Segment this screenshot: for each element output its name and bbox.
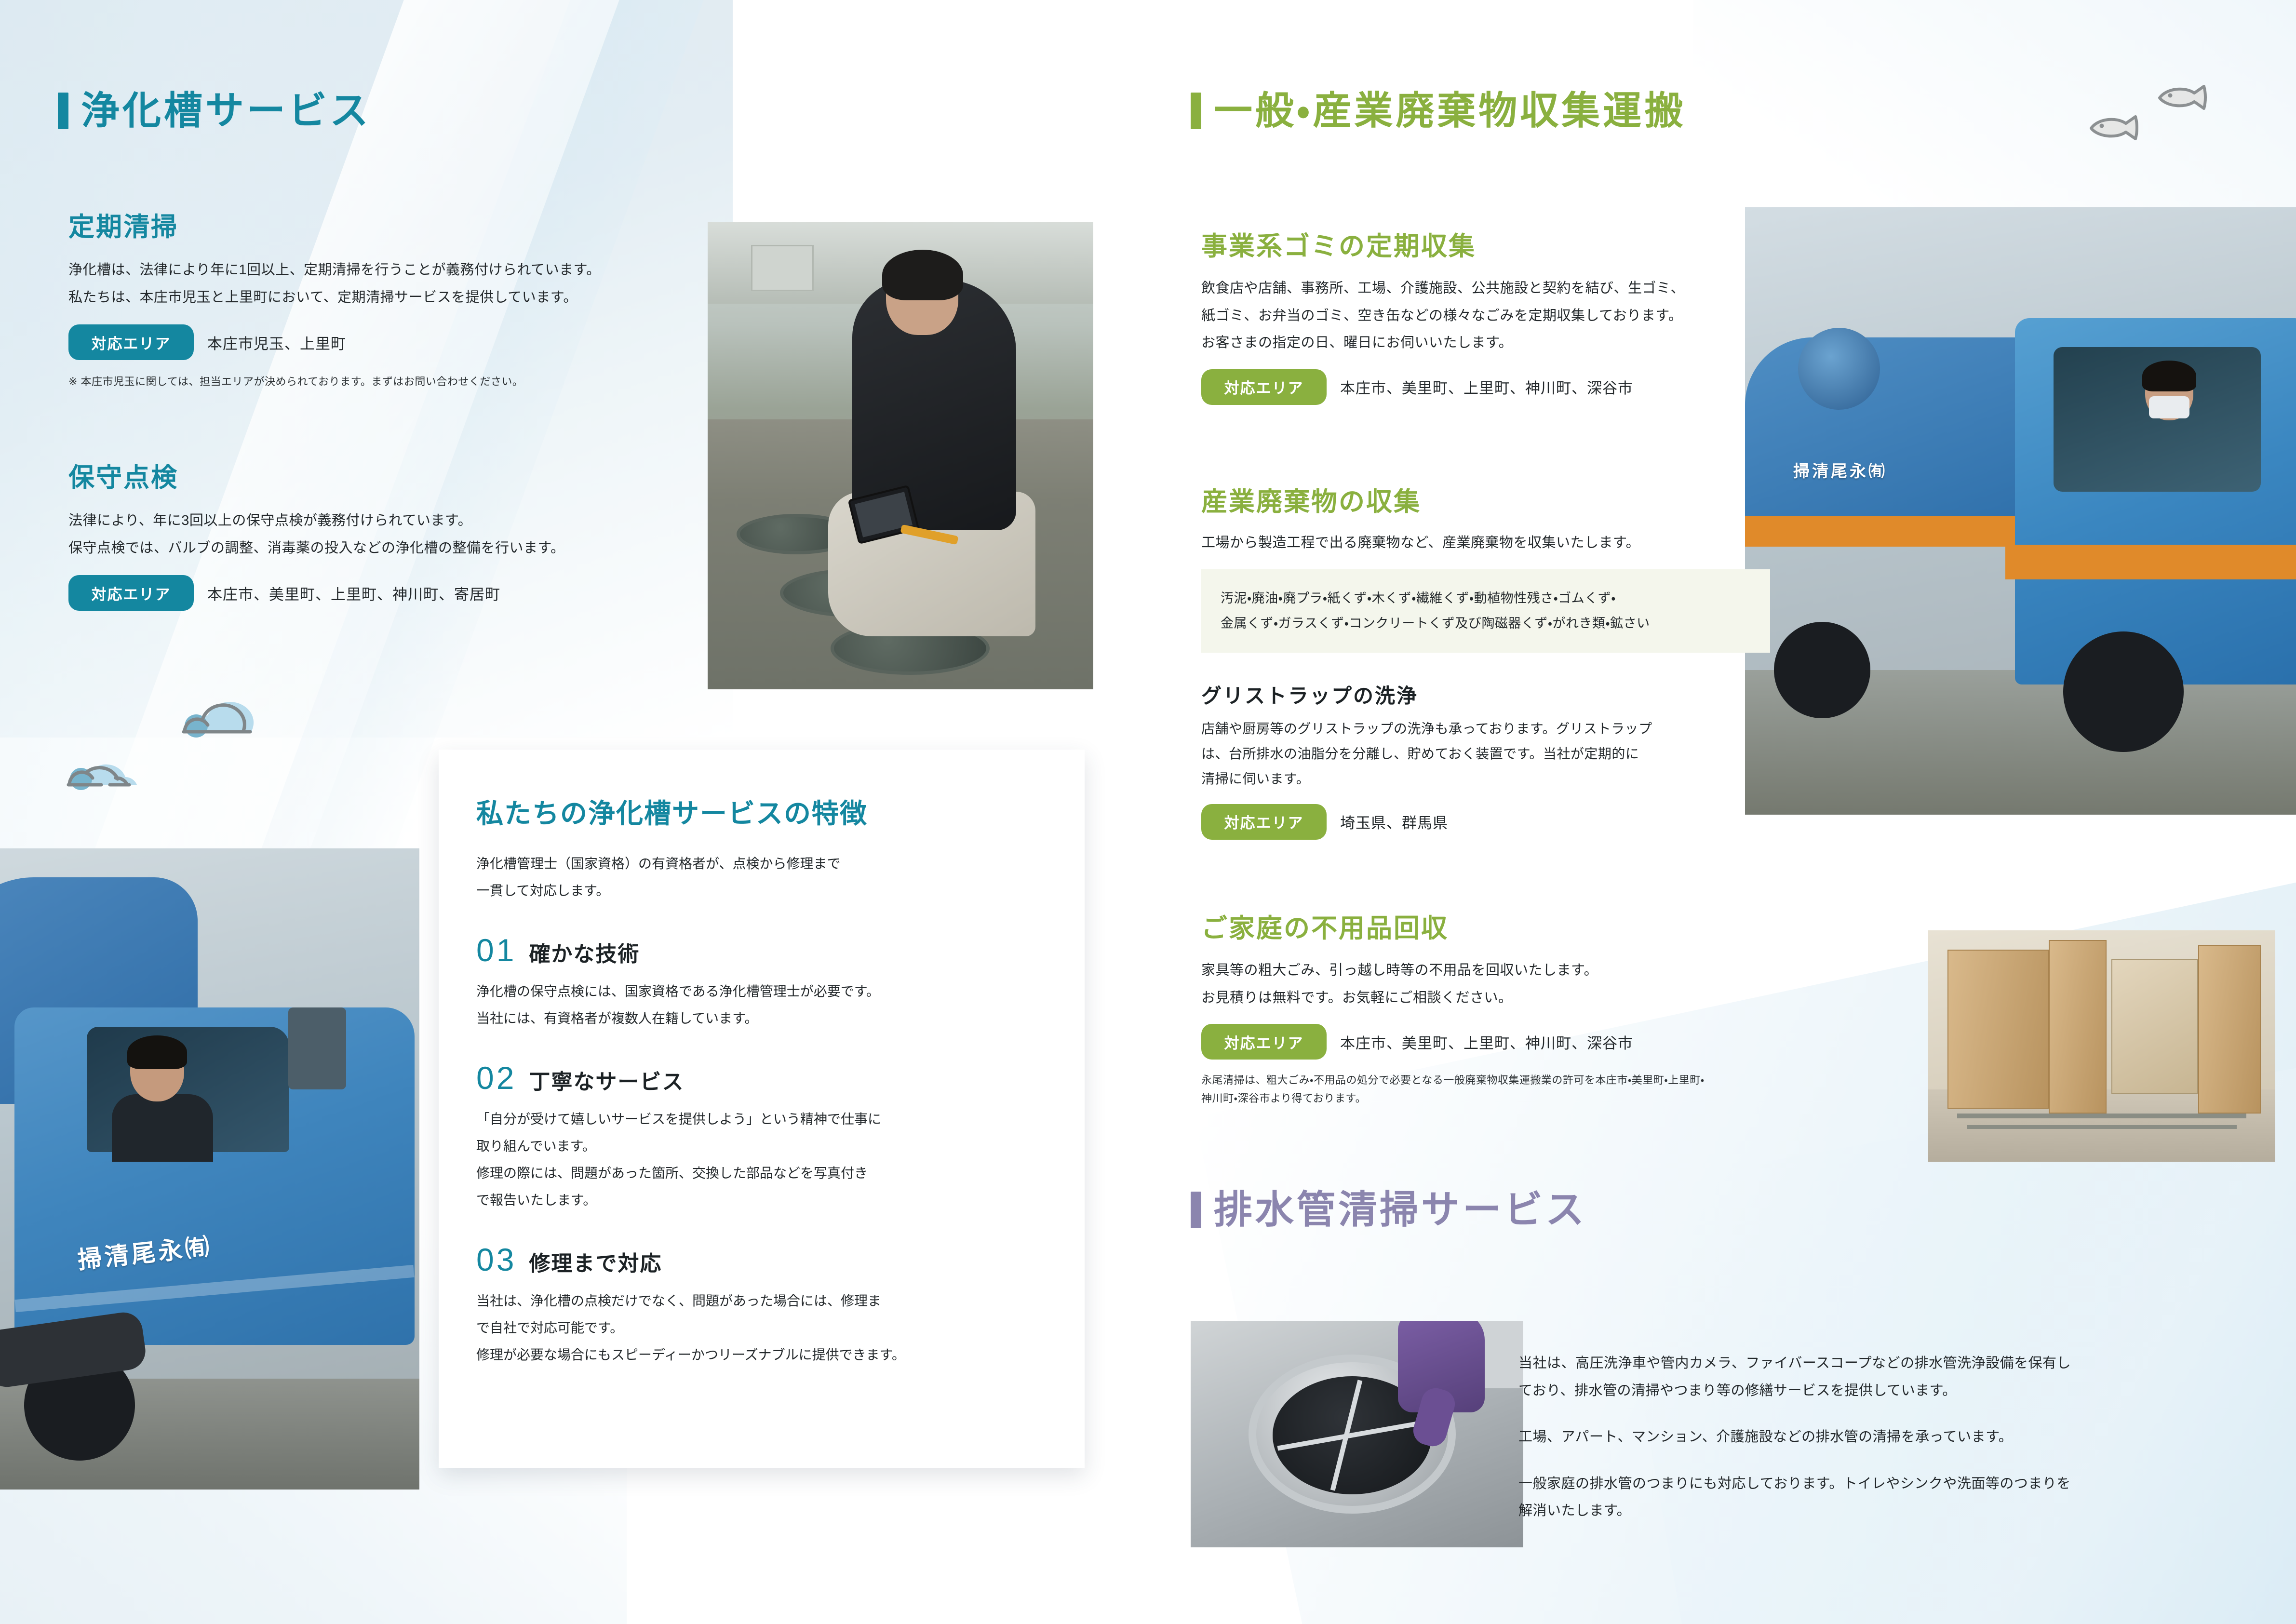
feature-item-03: 03 修理まで対応 当社は、浄化槽の点検だけでなく、問題があった場合には、修理ま… <box>476 1244 1047 1369</box>
feature-item-02: 02 丁寧なサービス 「自分が受けて嬉しいサービスを提供しよう」という精神で仕事… <box>476 1062 1047 1214</box>
feature-label-03: 修理まで対応 <box>529 1246 662 1277</box>
waste-types-box: 汚泥・廃油・廃プラ・紙くず・木くず・繊維くず・動植物性残さ・ゴムくず・ 金属くず… <box>1201 569 1770 653</box>
feature-number-02: 02 <box>476 1062 516 1094</box>
section-household-bulky-waste: ご家庭の不用品回収 家具等の粗大ごみ、引っ越し時等の不用品を回収いたします。 お… <box>1201 913 1818 1107</box>
area-row-grease-trap: 対応エリア 埼玉県、群馬県 <box>1201 804 1741 840</box>
feature-number-03: 03 <box>476 1244 516 1275</box>
section-grease-trap: グリストラップの洗浄 店舗や厨房等のグリストラップの洗浄も承っております。グリス… <box>1201 684 1741 840</box>
right-main-heading: 一般・産業廃棄物収集運搬 <box>1191 92 1686 130</box>
waste-types-line-2: 金属くず・ガラスくず・コンクリートくず及び陶磁器くず・がれき類・鉱さい <box>1221 611 1751 636</box>
section-heading-maintenance: 保守点検 <box>68 463 743 493</box>
section-body-drain-cleaning: 当社は、高圧洗浄車や管内カメラ、ファイバースコープなどの排水管洗浄設備を保有し … <box>1518 1350 2270 1525</box>
area-value-maintenance: 本庄市、美里町、上里町、神川町、寄居町 <box>207 582 500 604</box>
section-body-regular-cleaning: 浄化槽は、法律により年に1回以上、定期清掃を行うことが義務付けられています。 私… <box>68 256 743 311</box>
feature-card-title: 私たちの浄化槽サービスの特徴 <box>476 792 1047 831</box>
area-value-grease-trap: 埼玉県、群馬県 <box>1340 811 1448 832</box>
area-value-household-waste: 本庄市、美里町、上里町、神川町、深谷市 <box>1340 1031 1633 1053</box>
area-badge-business-waste: 対応エリア <box>1201 369 1327 405</box>
area-badge-regular-cleaning: 対応エリア <box>68 324 194 360</box>
feature-number-01: 01 <box>476 934 516 966</box>
right-column: 一般・産業廃棄物収集運搬 事業系ゴミの定期収集 飲食店や店舗、事務所、工場、介護… <box>1191 0 2296 1624</box>
feature-label-02: 丁寧なサービス <box>529 1064 684 1095</box>
heading-bar-teal <box>58 93 68 129</box>
section-drain-cleaning: 当社は、高圧洗浄車や管内カメラ、ファイバースコープなどの排水管洗浄設備を保有し … <box>1518 1350 2270 1525</box>
waste-types-line-1: 汚泥・廃油・廃プラ・紙くず・木くず・繊維くず・動植物性残さ・ゴムくず・ <box>1221 586 1751 611</box>
note-regular-cleaning: ※ 本庄市児玉に関しては、担当エリアが決められております。まずはお問い合わせくだ… <box>68 373 743 390</box>
feature-card-lead: 浄化槽管理士（国家資格）の有資格者が、点検から修理まで 一貫して対応します。 <box>476 850 1047 904</box>
area-row-household-waste: 対応エリア 本庄市、美里町、上里町、神川町、深谷市 <box>1201 1024 1818 1060</box>
section-heading-regular-cleaning: 定期清掃 <box>68 212 743 242</box>
feature-body-02: 「自分が受けて嬉しいサービスを提供しよう」という精神で仕事に 取り組んでいます。… <box>476 1106 1047 1214</box>
section-industrial-waste: 産業廃棄物の収集 工場から製造工程で出る廃棄物など、産業廃棄物を収集いたします。… <box>1201 487 1780 653</box>
feature-body-03: 当社は、浄化槽の点検だけでなく、問題があった場合には、修理ま で自社で対応可能で… <box>476 1288 1047 1369</box>
section-body-business-waste: 飲食店や店舗、事務所、工場、介護施設、公共施設と契約を結び、生ゴミ、 紙ゴミ、お… <box>1201 275 1852 357</box>
section-body-maintenance: 法律により、年に3回以上の保守点検が義務付けられています。 保守点検では、バルブ… <box>68 507 743 562</box>
section-business-waste: 事業系ゴミの定期収集 飲食店や店舗、事務所、工場、介護施設、公共施設と契約を結び… <box>1201 231 1852 405</box>
area-badge-maintenance: 対応エリア <box>68 575 194 611</box>
section-heading-industrial-waste: 産業廃棄物の収集 <box>1201 487 1780 517</box>
drain-service-heading-text: 排水管清掃サービス <box>1214 1191 1587 1229</box>
heading-bar-purple <box>1191 1192 1201 1228</box>
right-main-heading-text: 一般・産業廃棄物収集運搬 <box>1214 92 1686 130</box>
brochure-page: 掃清尾永㈲ 掃清尾永㈲ <box>0 0 2296 1624</box>
feature-body-01: 浄化槽の保守点検には、国家資格である浄化槽管理士が必要です。 当社には、有資格者… <box>476 978 1047 1032</box>
section-heading-business-waste: 事業系ゴミの定期収集 <box>1201 231 1852 261</box>
area-badge-household-waste: 対応エリア <box>1201 1024 1327 1060</box>
section-regular-cleaning: 定期清掃 浄化槽は、法律により年に1回以上、定期清掃を行うことが義務付けられてい… <box>68 212 743 391</box>
area-row-maintenance: 対応エリア 本庄市、美里町、上里町、神川町、寄居町 <box>68 575 743 611</box>
area-row-regular-cleaning: 対応エリア 本庄市児玉、上里町 <box>68 324 743 360</box>
section-heading-household-waste: ご家庭の不用品回収 <box>1201 913 1818 943</box>
note-household-waste: 永尾清掃は、粗大ごみ・不用品の処分で必要となる一般廃棄物収集運搬業の許可を本庄市… <box>1201 1071 1953 1107</box>
area-value-business-waste: 本庄市、美里町、上里町、神川町、深谷市 <box>1340 376 1633 398</box>
area-value-regular-cleaning: 本庄市児玉、上里町 <box>207 332 346 353</box>
section-body-grease-trap: 店舗や厨房等のグリストラップの洗浄も承っております。グリストラップ は、台所排水… <box>1201 716 1741 791</box>
drain-service-heading: 排水管清掃サービス <box>1191 1191 1587 1229</box>
section-heading-grease-trap: グリストラップの洗浄 <box>1201 684 1741 708</box>
area-row-business-waste: 対応エリア 本庄市、美里町、上里町、神川町、深谷市 <box>1201 369 1852 405</box>
section-body-household-waste: 家具等の粗大ごみ、引っ越し時等の不用品を回収いたします。 お見積りは無料です。お… <box>1201 957 1818 1011</box>
area-badge-grease-trap: 対応エリア <box>1201 804 1327 840</box>
left-main-heading: 浄化槽サービス <box>58 92 371 130</box>
feature-item-01: 01 確かな技術 浄化槽の保守点検には、国家資格である浄化槽管理士が必要です。 … <box>476 934 1047 1032</box>
feature-label-01: 確かな技術 <box>529 937 640 967</box>
feature-card: 私たちの浄化槽サービスの特徴 浄化槽管理士（国家資格）の有資格者が、点検から修理… <box>439 750 1085 1468</box>
section-maintenance-inspection: 保守点検 法律により、年に3回以上の保守点検が義務付けられています。 保守点検で… <box>68 463 743 611</box>
section-body-industrial-waste: 工場から製造工程で出る廃棄物など、産業廃棄物を収集いたします。 <box>1201 529 1780 557</box>
heading-bar-green <box>1191 93 1201 129</box>
left-main-heading-text: 浄化槽サービス <box>81 92 371 130</box>
